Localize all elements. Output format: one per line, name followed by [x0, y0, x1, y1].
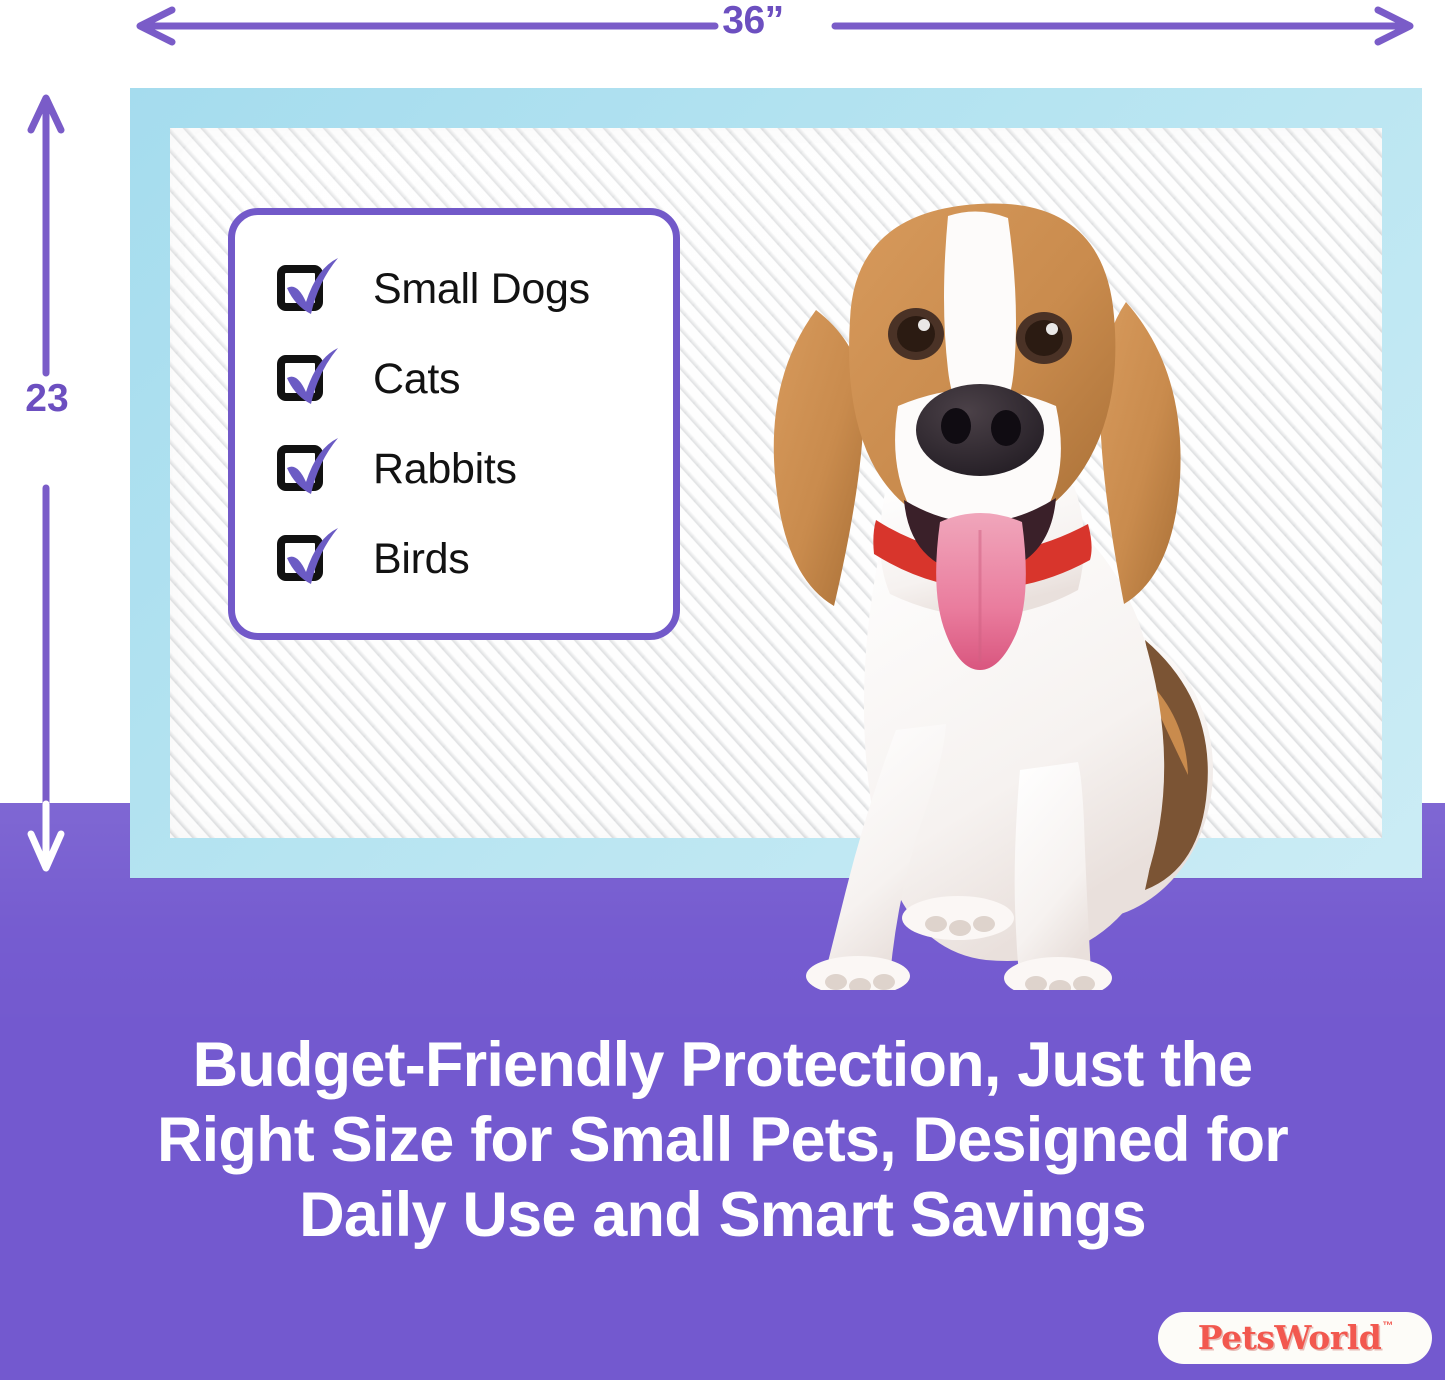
height-dimension-label: 23 — [4, 376, 90, 422]
checkbox-checked-icon[interactable] — [277, 261, 337, 317]
height-dimension-arrow — [26, 88, 66, 878]
checklist-item-label: Birds — [373, 534, 469, 584]
checkmark-icon — [283, 436, 341, 498]
brand-name: PetsWorld — [1198, 1320, 1382, 1356]
trademark-symbol: ™ — [1382, 1320, 1393, 1332]
checkbox-checked-icon[interactable] — [277, 441, 337, 497]
compatible-pets-checklist: Small Dogs Cats Rabbits — [228, 208, 680, 640]
headline-line-2: Right Size for Small Pets, Designed for — [72, 1103, 1373, 1178]
checklist-item[interactable]: Rabbits — [277, 424, 673, 514]
checkmark-icon — [283, 346, 341, 408]
width-dimension-label: 36” — [683, 0, 823, 44]
headline-line-1: Budget-Friendly Protection, Just the — [72, 1028, 1373, 1103]
checkbox-checked-icon[interactable] — [277, 351, 337, 407]
beagle-dog-photo — [690, 170, 1270, 990]
checkbox-checked-icon[interactable] — [277, 531, 337, 587]
vertical-dimension-arrow-icon — [26, 88, 66, 878]
marketing-headline: Budget-Friendly Protection, Just the Rig… — [72, 1028, 1373, 1253]
headline-line-3: Daily Use and Smart Savings — [72, 1178, 1373, 1253]
checklist-item[interactable]: Small Dogs — [277, 244, 673, 334]
checklist-item-label: Small Dogs — [373, 264, 590, 314]
checklist-item-label: Rabbits — [373, 444, 517, 494]
brand-logo[interactable]: PetsWorld™ — [1158, 1312, 1432, 1364]
product-marketing-image: 36” 23 — [0, 0, 1445, 1380]
checklist-item[interactable]: Cats — [277, 334, 673, 424]
checklist-item[interactable]: Birds — [277, 514, 673, 604]
checkmark-icon — [283, 526, 341, 588]
dog-illustration — [690, 170, 1270, 990]
checkmark-icon — [283, 256, 341, 318]
checklist-item-label: Cats — [373, 354, 460, 404]
